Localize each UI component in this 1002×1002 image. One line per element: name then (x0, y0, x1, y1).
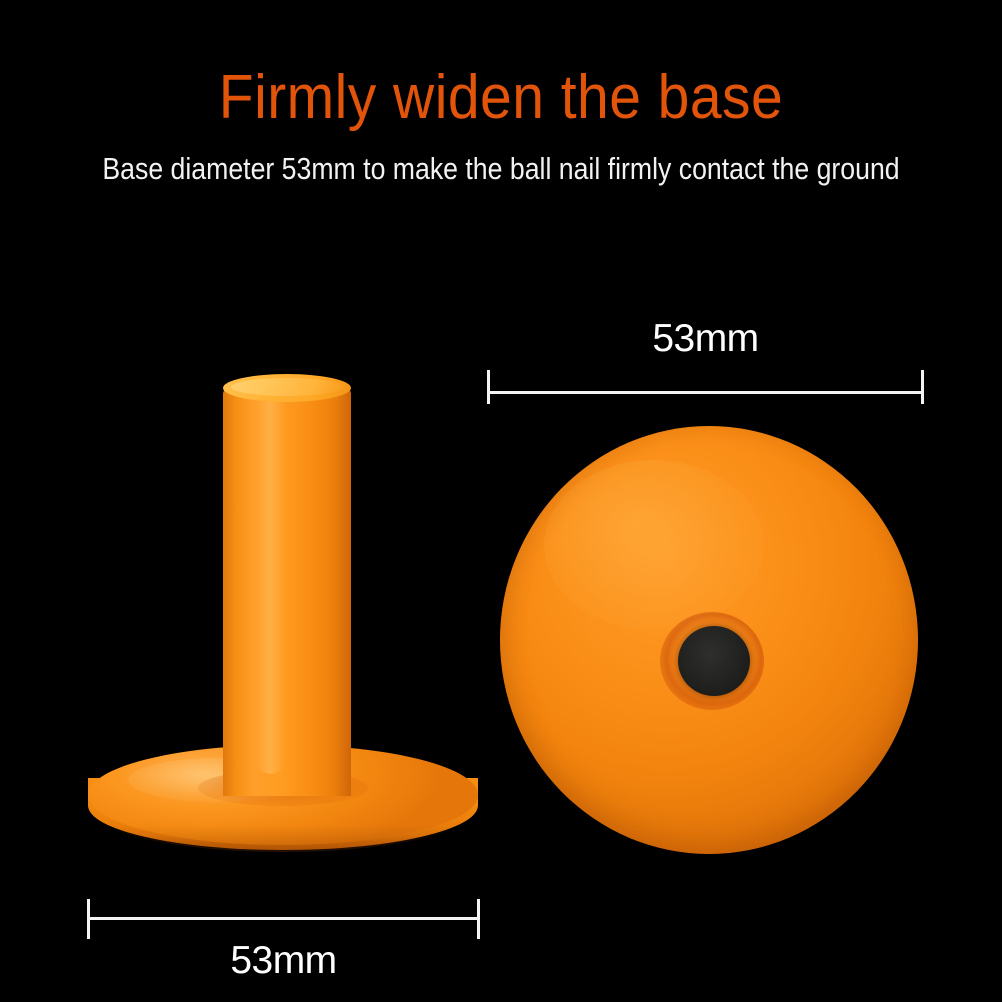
subheadline-text: Base diameter 53mm to make the ball nail… (70, 150, 932, 188)
dimension-tick-left-top (487, 370, 490, 404)
dimension-tick-right-top (921, 370, 924, 404)
product-side-view (80, 380, 490, 875)
dimension-bar-bottom (87, 917, 480, 920)
tee-stem-top-rim (231, 378, 343, 396)
tee-stem-highlight (256, 394, 286, 774)
center-hole (678, 626, 750, 696)
dimension-bar-top (487, 391, 924, 394)
base-bottom-rim (88, 788, 478, 852)
dimension-tick-left-bottom (87, 899, 90, 939)
product-face-view (500, 426, 918, 854)
dimension-tick-right-bottom (477, 899, 480, 939)
headline-text: Firmly widen the base (40, 62, 962, 134)
dimension-line-bottom: 53mm (87, 899, 480, 939)
dimension-label-top: 53mm (487, 317, 924, 361)
tee-stem (223, 388, 351, 796)
dimension-label-bottom: 53mm (87, 939, 480, 983)
product-feature-graphic: Firmly widen the base Base diameter 53mm… (0, 0, 1002, 1002)
dimension-line-top: 53mm (487, 370, 924, 404)
